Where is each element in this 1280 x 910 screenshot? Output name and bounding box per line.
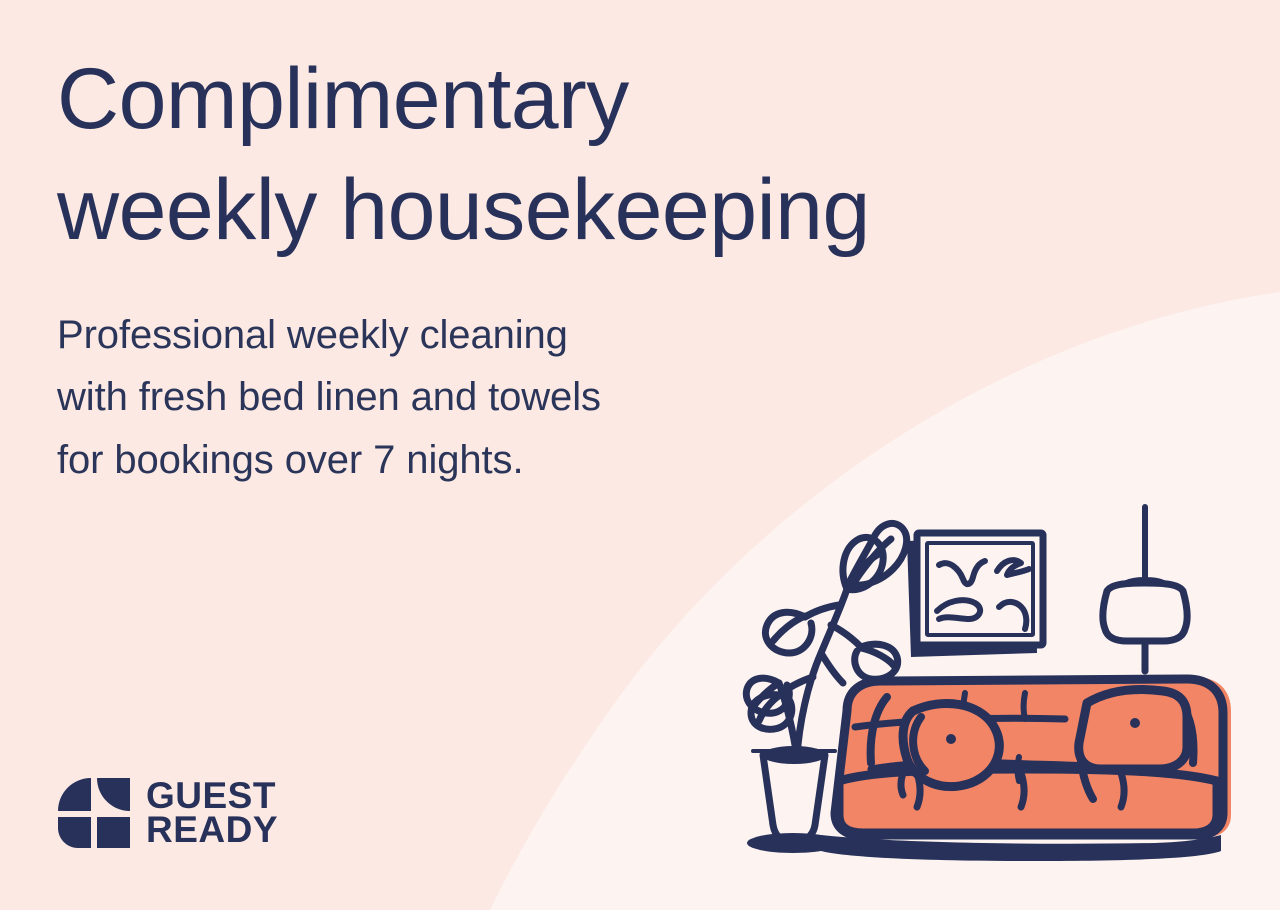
guestready-quadrant-mark [58,778,130,848]
promo-banner: Complimentary weekly housekeeping Profes… [0,0,1280,910]
logo-line-2: READY [146,813,278,847]
sofa-icon [821,677,1231,861]
guestready-logo[interactable]: GUEST READY [58,778,278,848]
framed-picture-icon [907,533,1043,657]
page-subtitle: Professional weekly cleaning with fresh … [57,266,1067,491]
copy-block: Complimentary weekly housekeeping Profes… [57,44,1067,491]
living-room-illustration [735,485,1255,880]
logo-line-1: GUEST [146,779,278,813]
pendant-lamp-icon [1103,507,1187,671]
logo-wordmark: GUEST READY [146,779,278,847]
page-title: Complimentary weekly housekeeping [57,44,1067,266]
